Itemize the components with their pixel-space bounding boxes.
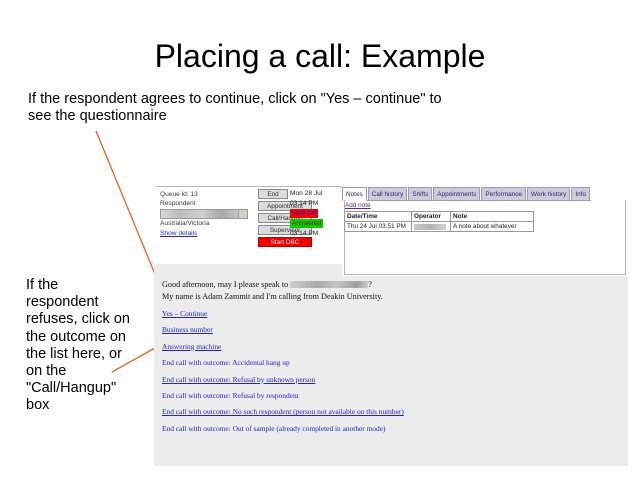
status-date: Mon 28 Jul xyxy=(290,189,342,199)
tab-work-history[interactable]: Work history xyxy=(527,187,570,200)
link-yes-continue[interactable]: Yes – Continue xyxy=(162,310,207,318)
page-title: Placing a call: Example xyxy=(0,38,640,75)
annotation-left-text: If the respondent refuses, click on the … xyxy=(26,277,130,415)
link-outcome-no-such-respondent[interactable]: End call with outcome: No such responden… xyxy=(162,408,404,416)
add-note-link[interactable]: Add note xyxy=(345,202,371,209)
table-row[interactable]: Thu 24 Jul 03:51 PM A note about whateve… xyxy=(345,222,534,232)
tab-shifts[interactable]: Shifts xyxy=(408,187,432,200)
respondent-select[interactable] xyxy=(160,209,248,219)
call-control-pane: Queue id: 13 Respondent Australia/Victor… xyxy=(156,186,342,259)
respondent-info: Queue id: 13 Respondent Australia/Victor… xyxy=(160,191,252,238)
cell-datetime: Thu 24 Jul 03:51 PM xyxy=(345,222,412,232)
cell-note: A note about whatever xyxy=(451,222,534,232)
link-outcome-refusal-unknown-person[interactable]: End call with outcome: Refusal by unknow… xyxy=(162,376,315,384)
slide-canvas: Placing a call: Example If the responden… xyxy=(0,0,640,480)
link-outcome-out-of-sample[interactable]: End call with outcome: Out of sample (al… xyxy=(162,425,386,433)
redacted-respondent-name xyxy=(290,281,368,288)
cell-operator xyxy=(412,222,451,232)
tab-bar: Notes Call history Shifts Appointments P… xyxy=(342,187,591,201)
col-header-operator: Operator xyxy=(412,212,451,222)
col-header-datetime: Date/Time xyxy=(345,212,412,222)
call-status-column: Mon 28 Jul 03:14 PM VoIP Off Answered 03… xyxy=(290,189,342,239)
greeting-script: Good afternoon, may I please speak to ? … xyxy=(162,279,383,302)
respondent-timezone: Australia/Victoria xyxy=(160,220,252,229)
tab-appointments[interactable]: Appointments xyxy=(433,187,480,200)
col-header-note: Note xyxy=(451,212,534,222)
link-business-number[interactable]: Business number xyxy=(162,326,213,334)
answered-status-badge: Answered xyxy=(290,219,323,228)
status-time-top: 03:14 PM xyxy=(290,199,342,209)
tab-call-history[interactable]: Call history xyxy=(368,187,408,200)
operator-info-pane: Notes Call history Shifts Appointments P… xyxy=(342,186,628,276)
notes-table: Date/Time Operator Note Thu 24 Jul 03:51… xyxy=(344,211,534,232)
status-time-bottom: 03:14 PM xyxy=(290,229,342,239)
greeting-prefix: Good afternoon, may I please speak to xyxy=(162,280,290,289)
tab-performance[interactable]: Performance xyxy=(481,187,526,200)
show-details-link[interactable]: Show details xyxy=(160,230,252,239)
tab-info[interactable]: Info xyxy=(571,187,590,200)
redacted-operator xyxy=(414,224,446,230)
greeting-suffix: ? xyxy=(368,280,372,289)
end-button[interactable]: End xyxy=(258,189,288,199)
voip-status-badge[interactable]: VoIP Off xyxy=(290,209,318,218)
call-script-area: Good afternoon, may I please speak to ? … xyxy=(154,278,628,466)
link-outcome-refusal-respondent[interactable]: End call with outcome: Refusal by respon… xyxy=(162,392,299,400)
annotation-top-text: If the respondent agrees to continue, cl… xyxy=(28,91,458,125)
embedded-app-screenshot: Queue id: 13 Respondent Australia/Victor… xyxy=(154,186,628,466)
queue-id-label: Queue id: 13 xyxy=(160,191,252,200)
app-top-strip: Queue id: 13 Respondent Australia/Victor… xyxy=(154,186,628,264)
link-outcome-accidental-hangup[interactable]: End call with outcome: Accidental hang u… xyxy=(162,359,290,367)
table-header-row: Date/Time Operator Note xyxy=(345,212,534,222)
greeting-line-two: My name is Adam Zammit and I'm calling f… xyxy=(162,292,383,301)
link-answering-machine[interactable]: Answering machine xyxy=(162,343,221,351)
tab-notes[interactable]: Notes xyxy=(342,187,367,201)
outcome-links-list: Yes – Continue Business number Answering… xyxy=(162,310,562,441)
respondent-label: Respondent xyxy=(160,200,252,209)
